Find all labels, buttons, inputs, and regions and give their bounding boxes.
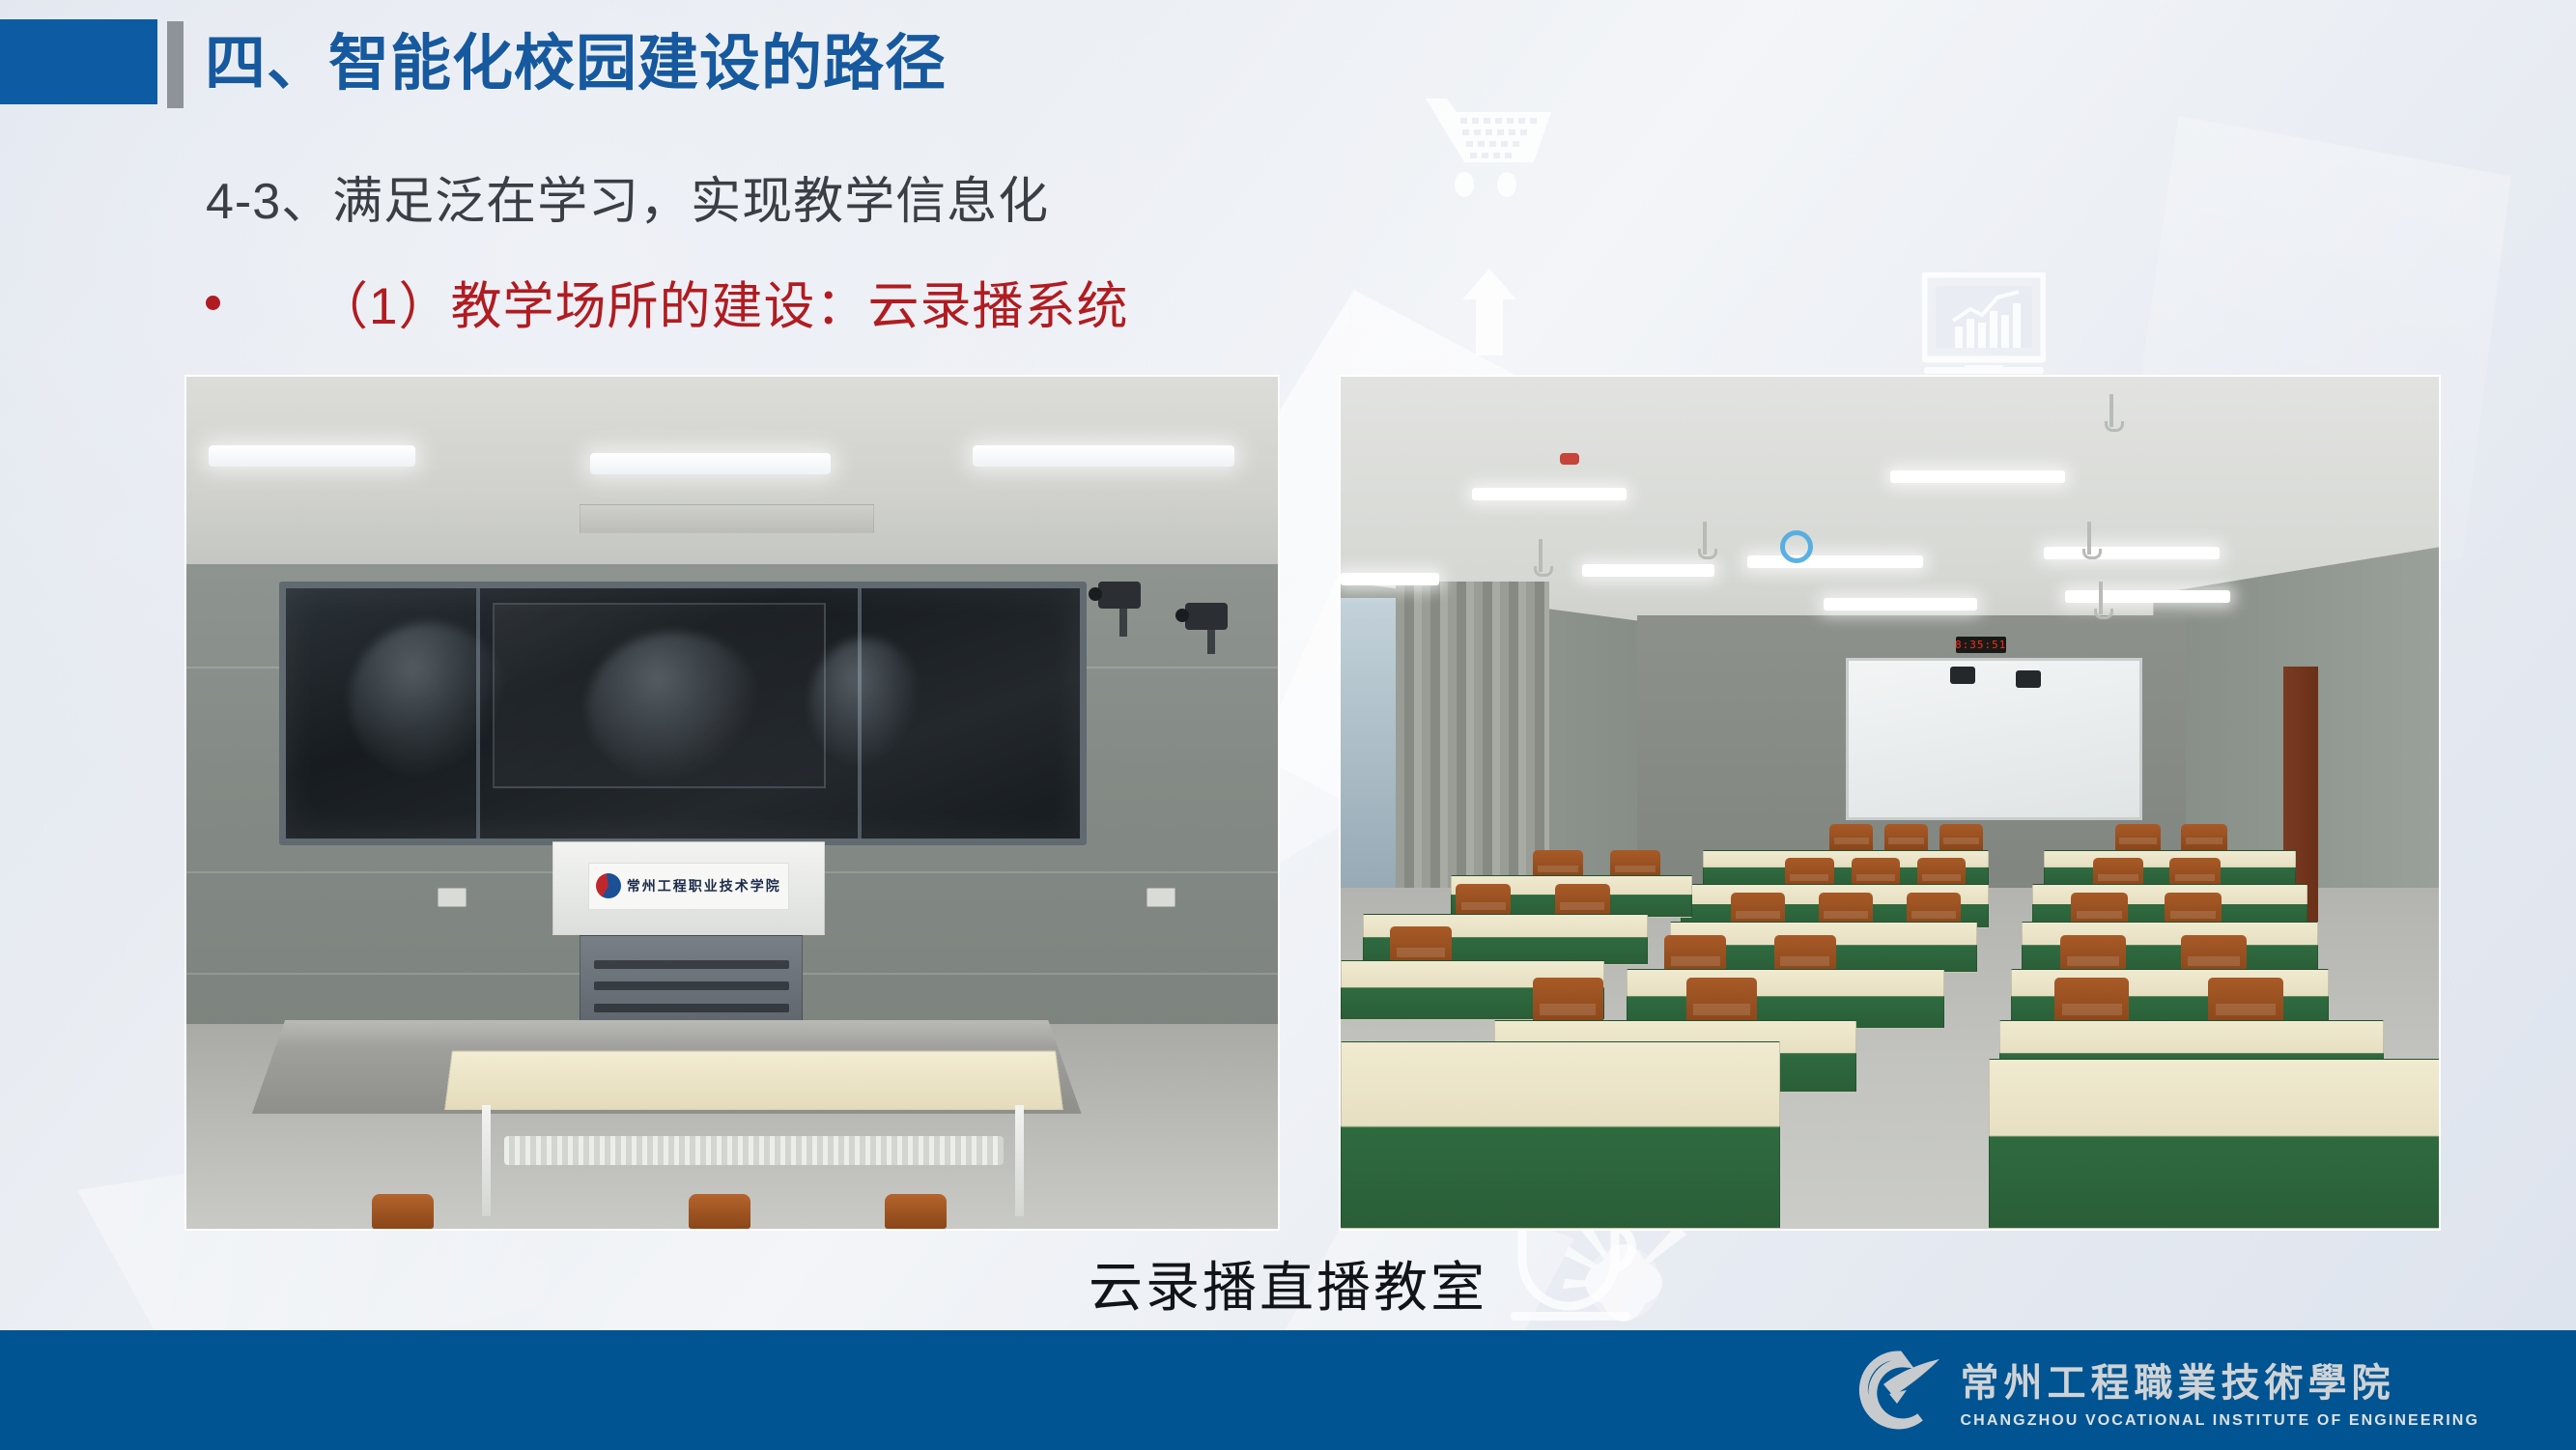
- lectern: 常州工程职业技术学院: [552, 841, 826, 935]
- arrow-up-icon: [1460, 269, 1518, 355]
- ceiling: [186, 377, 1278, 573]
- whiteboard: [1846, 658, 2142, 820]
- institution-logo: 常州工程職業技術學院 CHANGZHOU VOCATIONAL INSTITUT…: [1854, 1346, 2479, 1435]
- ceiling-lamp: [590, 453, 831, 474]
- photo-caption: 云录播直播教室: [0, 1244, 2576, 1322]
- desk: [1989, 1059, 2439, 1229]
- photo-recording-classroom-seating: 8:35:51: [1341, 377, 2439, 1229]
- monitor-chart-icon: [1922, 272, 2046, 381]
- ceiling-hook: [2109, 394, 2113, 427]
- ceiling-lamp: [1582, 564, 1713, 577]
- ceiling-lamp: [1341, 573, 1439, 585]
- title-accent-block: [0, 19, 157, 104]
- title-accent-bar: [167, 21, 184, 108]
- institution-name-cn: 常州工程職業技術學院: [1961, 1351, 2479, 1407]
- ceiling-hook: [2099, 582, 2103, 614]
- bullet-row: （1）教学场所的建设：云录播系统: [206, 266, 1128, 339]
- institution-name-en: CHANGZHOU VOCATIONAL INSTITUTE OF ENGINE…: [1961, 1412, 2479, 1430]
- ceiling-lamp: [2065, 590, 2230, 603]
- wall-socket: [1146, 888, 1175, 907]
- ceiling-hook: [1539, 539, 1543, 572]
- slide-footer: 常州工程職業技術學院 CHANGZHOU VOCATIONAL INSTITUT…: [0, 1330, 2576, 1450]
- slide-canvas: 四、智能化校园建设的路径 4-3、满足泛在学习，实现教学信息化 （1）教学场所的…: [0, 0, 2576, 1450]
- ceiling-lamp: [1890, 470, 2066, 483]
- ceiling-hook: [1703, 522, 1707, 554]
- led-clock-display: 8:35:51: [1956, 637, 2006, 653]
- chair: [885, 1194, 947, 1229]
- cvie-swoosh-logo-icon: [1854, 1346, 1943, 1435]
- camera-icon: [1185, 603, 1228, 630]
- camera-icon: [2016, 670, 2041, 688]
- ceiling-lamp: [209, 445, 416, 467]
- front-table-frame: [470, 1105, 1038, 1216]
- ceiling-lamp: [1824, 598, 1977, 611]
- subtitle-line: 4-3、满足泛在学习，实现教学信息化: [206, 160, 1049, 233]
- ceiling-lamp: [1747, 555, 1923, 568]
- camera-icon: [1098, 582, 1141, 609]
- led-clock-value: 8:35:51: [1955, 639, 2006, 651]
- institution-name-block: 常州工程職業技術學院 CHANGZHOU VOCATIONAL INSTITUT…: [1961, 1351, 2479, 1430]
- hanging-ring-icon: [1780, 530, 1813, 563]
- chair: [372, 1194, 434, 1229]
- ceiling-lamp: [973, 445, 1234, 467]
- bullet-dot-icon: [206, 296, 220, 310]
- wall-socket: [438, 888, 467, 907]
- smoke-detector-icon: [1560, 453, 1579, 465]
- front-table: [444, 1050, 1063, 1109]
- bullet-text: （1）教学场所的建设：云录播系统: [317, 266, 1128, 339]
- camera-icon: [1950, 667, 1975, 684]
- ceiling-lamp: [1472, 488, 1626, 500]
- photo-recording-classroom-front: 常州工程职业技术学院: [186, 377, 1278, 1229]
- lectern-nameplate-text: 常州工程职业技术学院: [627, 876, 781, 896]
- slide-header: 四、智能化校园建设的路径: [0, 0, 2576, 155]
- display-wall-screen: [279, 582, 1087, 845]
- ceiling-hook: [2087, 522, 2091, 554]
- institute-emblem-icon: [596, 873, 621, 898]
- desk: [1341, 1041, 1780, 1229]
- chair: [689, 1194, 750, 1229]
- page-title: 四、智能化校园建设的路径: [205, 17, 947, 110]
- ceiling-vent: [580, 504, 874, 533]
- ceiling-lamp: [2044, 547, 2220, 559]
- lectern-nameplate: 常州工程职业技术学院: [588, 863, 789, 910]
